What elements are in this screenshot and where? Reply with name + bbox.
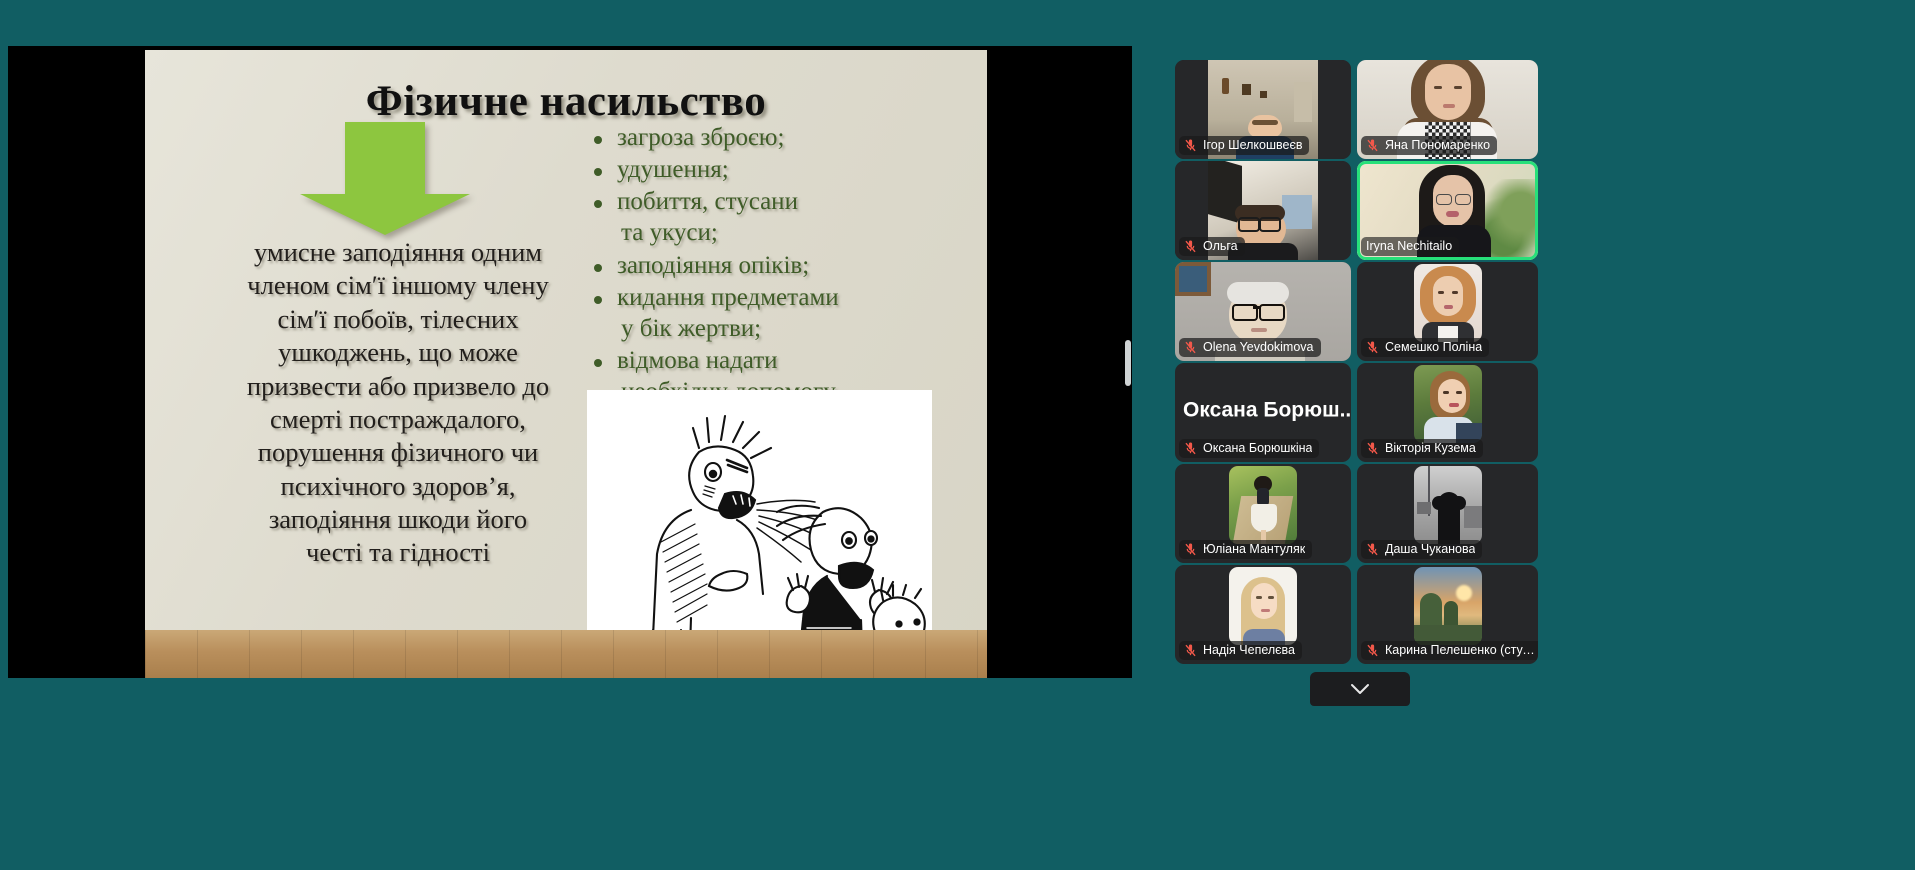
microphone-muted-icon: [1184, 139, 1197, 152]
participant-name-badge: Карина Пелешенко (студ…: [1361, 641, 1538, 660]
slide-floor-graphic: [145, 630, 987, 678]
participant-large-name: Оксана Борюш...: [1183, 398, 1351, 422]
participant-name: Оксана Борюшкіна: [1203, 441, 1312, 455]
participant-name-badge: Ольга: [1179, 237, 1245, 256]
avatar: [1414, 466, 1482, 544]
participant-filmstrip[interactable]: Ігор Шелкошвеєв: [1175, 60, 1893, 672]
participant-name-badge: Семешко Поліна: [1361, 338, 1489, 357]
microphone-muted-icon: [1184, 341, 1197, 354]
list-item: загроза зброєю;: [591, 122, 941, 153]
filmstrip-scroll-down-button[interactable]: [1310, 672, 1410, 706]
participant-name: Ігор Шелкошвеєв: [1203, 138, 1302, 152]
bullet-dot-icon: [594, 136, 602, 144]
bullet-dot-icon: [594, 264, 602, 272]
participant-tile[interactable]: Юліана Мантуляк: [1175, 464, 1351, 563]
participant-tile[interactable]: Семешко Поліна: [1357, 262, 1538, 361]
participant-tile[interactable]: Оксана Борюш... Оксана Борюшкіна: [1175, 363, 1351, 462]
participant-name-badge: Юліана Мантуляк: [1179, 540, 1312, 559]
avatar: [1229, 466, 1297, 544]
participant-name: Надія Чепелєва: [1203, 643, 1295, 657]
slide-definition-text: умисне заподіяння одним членом сім′ї інш…: [243, 236, 553, 570]
microphone-muted-icon: [1184, 543, 1197, 556]
participant-tile[interactable]: Olena Yevdokimova: [1175, 262, 1351, 361]
participant-name: Ольга: [1203, 239, 1238, 253]
microphone-muted-icon: [1366, 341, 1379, 354]
participant-tile[interactable]: Карина Пелешенко (студ…: [1357, 565, 1538, 664]
chevron-down-icon: [1350, 683, 1370, 695]
participant-tile[interactable]: Даша Чуканова: [1357, 464, 1538, 563]
participant-name: Iryna Nechitailo: [1366, 239, 1452, 253]
microphone-muted-icon: [1366, 543, 1379, 556]
participant-name-badge: Olena Yevdokimova: [1179, 338, 1321, 357]
bullet-dot-icon: [594, 359, 602, 367]
participant-name-badge: Яна Пономаренко: [1361, 136, 1497, 155]
participant-name-badge: Iryna Nechitailo: [1361, 237, 1459, 256]
bullet-dot-icon: [594, 296, 602, 304]
participant-name-badge: Ігор Шелкошвеєв: [1179, 136, 1309, 155]
list-item: побиття, стусанита укуси;: [591, 186, 941, 248]
participant-name: Даша Чуканова: [1385, 542, 1475, 556]
zoom-meeting-window: Фізичне насильство умисне заподіяння одн…: [0, 0, 1915, 870]
slide-bullet-list: загроза зброєю; удушення; побиття, стуса…: [591, 122, 941, 408]
shared-screen-stage[interactable]: Фізичне насильство умисне заподіяння одн…: [8, 46, 1132, 678]
stage-scrollbar[interactable]: [1125, 340, 1131, 386]
presentation-slide: Фізичне насильство умисне заподіяння одн…: [145, 50, 987, 678]
participant-name-badge: Надія Чепелєва: [1179, 641, 1302, 660]
participant-name: Вікторія Кузема: [1385, 441, 1476, 455]
participant-tile-active-speaker[interactable]: Iryna Nechitailo: [1357, 161, 1538, 260]
participant-name: Яна Пономаренко: [1385, 138, 1490, 152]
list-item: кидання предметамиу бік жертви;: [591, 282, 941, 344]
microphone-muted-icon: [1366, 644, 1379, 657]
microphone-muted-icon: [1184, 240, 1197, 253]
down-arrow-icon: [295, 122, 475, 237]
participant-name-badge: Оксана Борюшкіна: [1179, 439, 1319, 458]
participant-name: Семешко Поліна: [1385, 340, 1482, 354]
microphone-muted-icon: [1366, 442, 1379, 455]
avatar: [1414, 264, 1482, 342]
participant-name: Юліана Мантуляк: [1203, 542, 1305, 556]
participant-tile[interactable]: Надія Чепелєва: [1175, 565, 1351, 664]
bullet-dot-icon: [594, 200, 602, 208]
participant-name-badge: Вікторія Кузема: [1361, 439, 1483, 458]
avatar: [1414, 567, 1482, 645]
list-item: заподіяння опіків;: [591, 250, 941, 281]
microphone-muted-icon: [1184, 442, 1197, 455]
participant-tile[interactable]: Вікторія Кузема: [1357, 363, 1538, 462]
participant-name-badge: Даша Чуканова: [1361, 540, 1482, 559]
bullet-dot-icon: [594, 168, 602, 176]
participant-tile[interactable]: Ігор Шелкошвеєв: [1175, 60, 1351, 159]
list-item: удушення;: [591, 154, 941, 185]
microphone-muted-icon: [1366, 139, 1379, 152]
microphone-muted-icon: [1184, 644, 1197, 657]
participant-tile[interactable]: Ольга: [1175, 161, 1351, 260]
participant-name: Карина Пелешенко (студ…: [1385, 643, 1538, 657]
avatar: [1414, 365, 1482, 443]
participant-tile[interactable]: Яна Пономаренко: [1357, 60, 1538, 159]
slide-title: Фізичне насильство: [145, 77, 987, 126]
participant-name: Olena Yevdokimova: [1203, 340, 1314, 354]
avatar: [1229, 567, 1297, 645]
